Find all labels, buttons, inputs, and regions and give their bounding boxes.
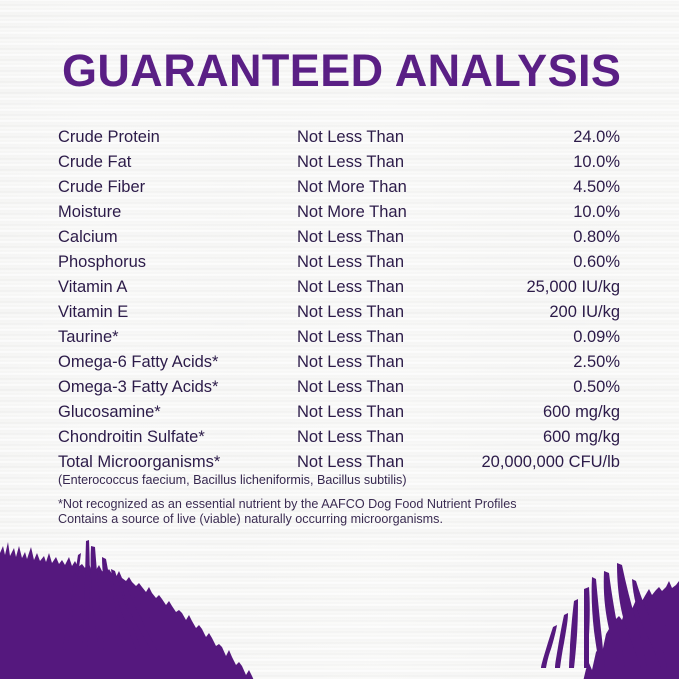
nutrient-value: 600 mg/kg: [472, 428, 620, 447]
nutrient-qualifier: Not Less Than: [297, 428, 472, 447]
nutrient-value: 24.0%: [472, 128, 620, 147]
table-row: Chondroitin Sulfate* Not Less Than 600 m…: [58, 428, 620, 453]
microorganism-strains-note: (Enterococcus faecium, Bacillus lichenif…: [58, 473, 407, 487]
table-row: Omega-3 Fatty Acids* Not Less Than 0.50%: [58, 378, 620, 403]
nutrient-name: Phosphorus: [58, 253, 297, 272]
nutrient-name: Chondroitin Sulfate*: [58, 428, 297, 447]
nutrient-name: Total Microorganisms*: [58, 453, 297, 472]
nutrient-name: Crude Fiber: [58, 178, 297, 197]
footnote-aafco: *Not recognized as an essential nutrient…: [58, 497, 517, 512]
nutrient-name: Glucosamine*: [58, 403, 297, 422]
table-row: Vitamin A Not Less Than 25,000 IU/kg: [58, 278, 620, 303]
grass-silhouette-icon: [0, 519, 679, 679]
nutrient-qualifier: Not Less Than: [297, 353, 472, 372]
nutrient-qualifier: Not More Than: [297, 178, 472, 197]
table-row: Taurine* Not Less Than 0.09%: [58, 328, 620, 353]
nutrient-value: 600 mg/kg: [472, 403, 620, 422]
nutrient-qualifier: Not Less Than: [297, 128, 472, 147]
table-row: Calcium Not Less Than 0.80%: [58, 228, 620, 253]
nutrient-name: Omega-3 Fatty Acids*: [58, 378, 297, 397]
nutrient-value: 2.50%: [472, 353, 620, 372]
nutrient-qualifier: Not Less Than: [297, 228, 472, 247]
nutrient-value: 0.80%: [472, 228, 620, 247]
nutrient-name: Crude Protein: [58, 128, 297, 147]
nutrient-name: Vitamin E: [58, 303, 297, 322]
nutrient-qualifier: Not Less Than: [297, 403, 472, 422]
nutrient-name: Calcium: [58, 228, 297, 247]
nutrient-qualifier: Not Less Than: [297, 153, 472, 172]
page-title: GUARANTEED ANALYSIS: [62, 47, 621, 95]
nutrient-qualifier: Not Less Than: [297, 303, 472, 322]
table-row: Crude Protein Not Less Than 24.0%: [58, 128, 620, 153]
table-row: Vitamin E Not Less Than 200 IU/kg: [58, 303, 620, 328]
nutrient-name: Moisture: [58, 203, 297, 222]
table-row: Omega-6 Fatty Acids* Not Less Than 2.50%: [58, 353, 620, 378]
nutrient-value: 4.50%: [472, 178, 620, 197]
nutrient-value: 25,000 IU/kg: [472, 278, 620, 297]
nutrient-name: Crude Fat: [58, 153, 297, 172]
table-row: Crude Fat Not Less Than 10.0%: [58, 153, 620, 178]
nutrient-value: 0.50%: [472, 378, 620, 397]
nutrient-qualifier: Not Less Than: [297, 278, 472, 297]
nutrient-qualifier: Not Less Than: [297, 378, 472, 397]
nutrient-value: 0.09%: [472, 328, 620, 347]
nutrient-value: 10.0%: [472, 153, 620, 172]
table-row: Crude Fiber Not More Than 4.50%: [58, 178, 620, 203]
nutrient-value: 0.60%: [472, 253, 620, 272]
table-row: Moisture Not More Than 10.0%: [58, 203, 620, 228]
nutrient-qualifier: Not More Than: [297, 203, 472, 222]
label-panel: GUARANTEED ANALYSIS Crude Protein Not Le…: [0, 0, 679, 679]
nutrient-name: Omega-6 Fatty Acids*: [58, 353, 297, 372]
nutrient-name: Taurine*: [58, 328, 297, 347]
nutrient-qualifier: Not Less Than: [297, 253, 472, 272]
table-row: Glucosamine* Not Less Than 600 mg/kg: [58, 403, 620, 428]
nutrient-value: 10.0%: [472, 203, 620, 222]
nutrient-qualifier: Not Less Than: [297, 328, 472, 347]
nutrient-value: 200 IU/kg: [472, 303, 620, 322]
nutrient-qualifier: Not Less Than: [297, 453, 472, 472]
guaranteed-analysis-table: Crude Protein Not Less Than 24.0% Crude …: [58, 128, 620, 478]
nutrient-name: Vitamin A: [58, 278, 297, 297]
nutrient-value: 20,000,000 CFU/lb: [472, 453, 620, 472]
table-row: Phosphorus Not Less Than 0.60%: [58, 253, 620, 278]
